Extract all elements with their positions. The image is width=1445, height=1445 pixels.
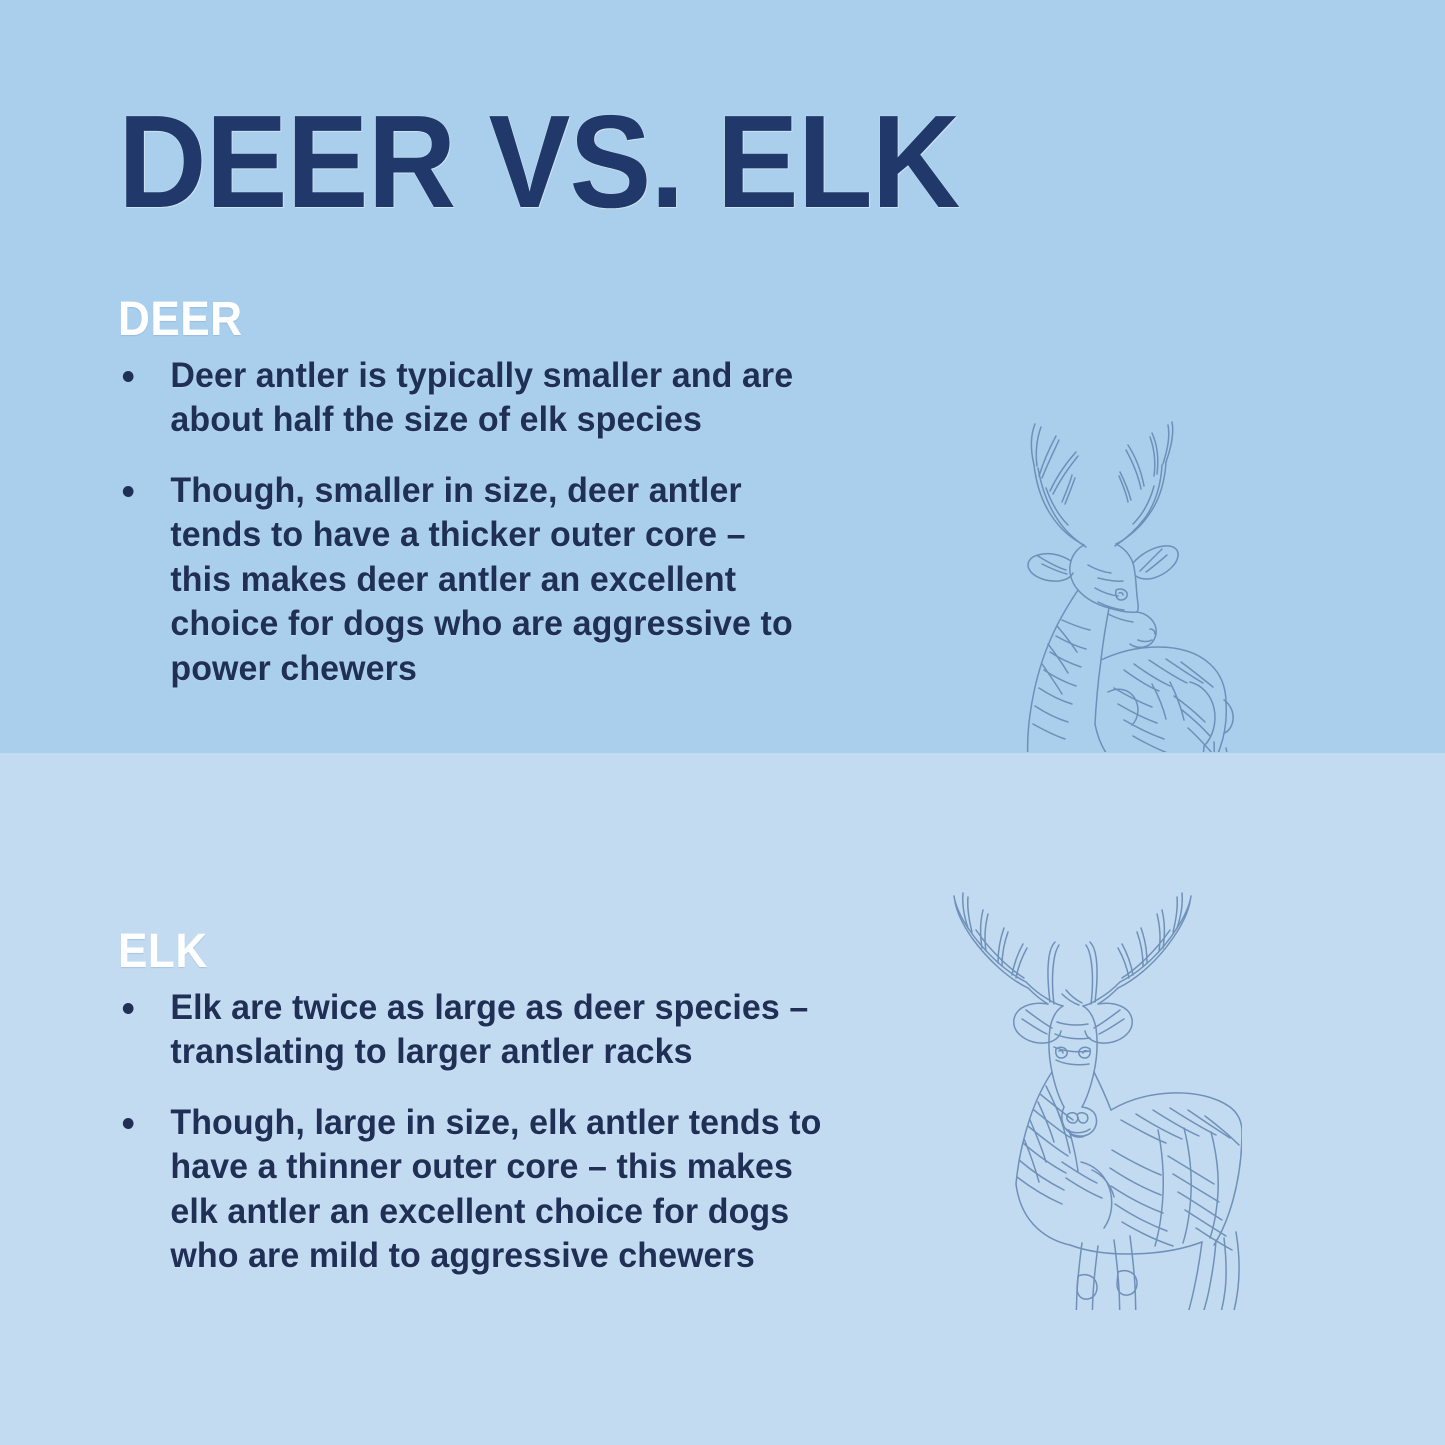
bullet-text: Though, smaller in size, deer antler ten… [170, 471, 792, 688]
elk-bullet-list: Elk are twice as large as deer species –… [118, 986, 858, 1279]
section-heading-elk: ELK [118, 928, 799, 976]
bullet-dot-icon [123, 486, 134, 497]
elk-illustration [906, 862, 1242, 1310]
deer-bullet-list: Deer antler is typically smaller and are… [118, 354, 818, 691]
list-item: Deer antler is typically smaller and are… [118, 354, 797, 443]
title-block: DEER VS. ELK [118, 96, 1118, 226]
deer-text-block: DEER Deer antler is typically smaller an… [118, 296, 818, 691]
bullet-text: Deer antler is typically smaller and are… [170, 356, 793, 439]
bullet-dot-icon [123, 371, 134, 382]
list-item: Elk are twice as large as deer species –… [118, 986, 836, 1075]
bullet-text: Elk are twice as large as deer species –… [170, 988, 808, 1071]
list-item: Though, smaller in size, deer antler ten… [118, 469, 797, 691]
page-title: DEER VS. ELK [118, 96, 1048, 228]
bullet-dot-icon [123, 1003, 134, 1014]
bullet-text: Though, large in size, elk antler tends … [170, 1103, 821, 1275]
deer-illustration [938, 352, 1248, 752]
section-heading-deer: DEER [118, 296, 762, 344]
elk-text-block: ELK Elk are twice as large as deer speci… [118, 928, 858, 1279]
list-item: Though, large in size, elk antler tends … [118, 1101, 836, 1279]
bullet-dot-icon [123, 1118, 134, 1129]
infographic-poster: DEER VS. ELK DEER Deer antler is typical… [0, 0, 1445, 1445]
